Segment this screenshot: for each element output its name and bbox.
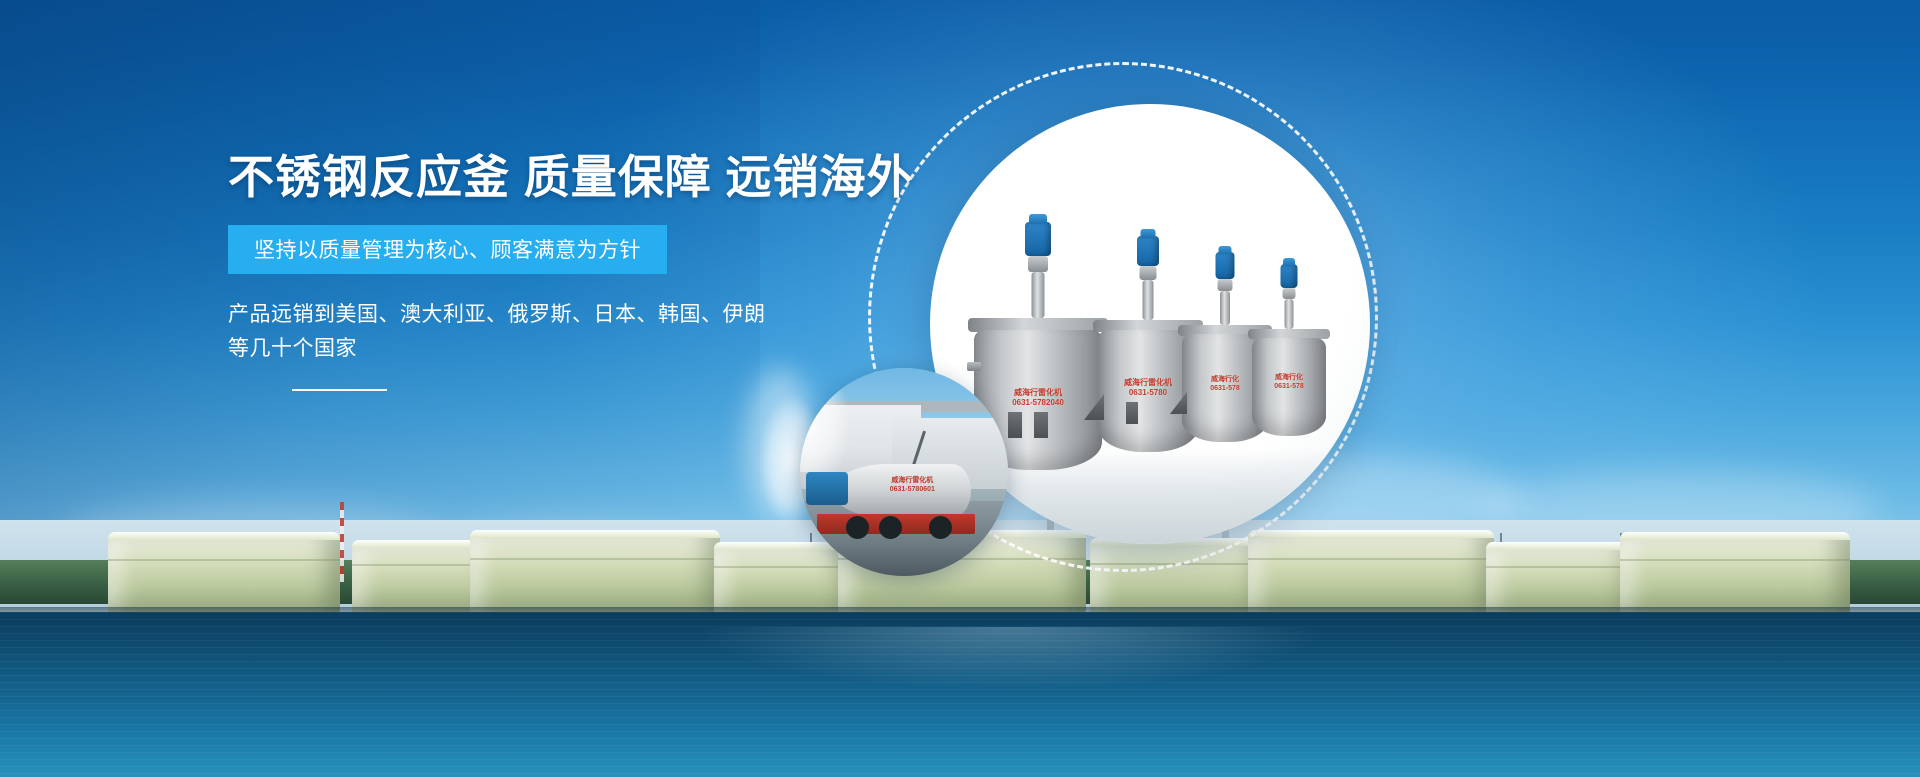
motor-cap-icon [1219,246,1232,254]
agitator-motor-icon [1216,252,1235,279]
motor-cap-icon [1029,214,1047,224]
reactor-vessel-4: 威海行化 0631-578 [1252,264,1326,440]
inset-wheel-3 [929,516,952,539]
factory-photo-inset: 威海行雷化机 0631-5780601 [800,368,1008,576]
storage-tank [1620,532,1850,612]
agitator-motor-icon [1025,222,1051,256]
support-fin [1126,402,1138,424]
storage-tank [1486,542,1636,612]
inset-wheel-2 [879,516,902,539]
gearbox-icon [1218,279,1233,291]
support-fin [1034,412,1048,438]
banner-description: 产品远销到美国、澳大利亚、俄罗斯、日本、韩国、伊朗 等几十个国家 [228,298,928,367]
agitator-shaft [1032,272,1045,318]
radio-tower-icon [340,502,344,582]
banner-copy-block: 不锈钢反应釜 质量保障 远销海外 坚持以质量管理为核心、顾客满意为方针 产品远销… [228,152,928,391]
inset-tank-drive [806,472,848,505]
motor-cap-icon [1141,229,1156,238]
vessel-label-1: 威海行雷化机 0631-5782040 [1012,388,1064,408]
agitator-motor-icon [1281,264,1298,288]
agitator-shaft [1220,291,1230,325]
inset-vessel-label: 威海行雷化机 0631-5780601 [890,476,935,494]
gearbox-icon [1140,266,1157,280]
agitator-motor-icon [1137,236,1159,266]
banner-subtitle-bar: 坚持以质量管理为核心、顾客满意为方针 [228,225,667,274]
hero-banner: 威海行雷化机 0631-5782040 威海行雷化机 0631-5780 [0,0,1920,777]
gearbox-icon [1028,256,1048,272]
agitator-shaft [1285,299,1294,329]
banner-description-line-2: 等几十个国家 [228,332,928,367]
banner-description-line-1: 产品远销到美国、澳大利亚、俄罗斯、日本、韩国、伊朗 [228,298,928,333]
gearbox-icon [1283,288,1296,299]
banner-headline: 不锈钢反应釜 质量保障 远销海外 [228,152,928,204]
water-shimmer [0,612,1920,777]
inset-wheel-1 [846,516,869,539]
motor-cap-icon [1283,258,1295,266]
storage-tank [108,532,340,612]
support-fin [1008,412,1022,438]
vessel-label-3: 威海行化 0631-578 [1210,376,1240,394]
storage-tank [470,530,720,612]
vessel-label-4: 威海行化 0631-578 [1274,374,1304,392]
agitator-shaft [1143,280,1154,320]
decorative-rule [292,389,387,391]
vessel-label-2: 威海行雷化机 0631-5780 [1124,378,1172,398]
